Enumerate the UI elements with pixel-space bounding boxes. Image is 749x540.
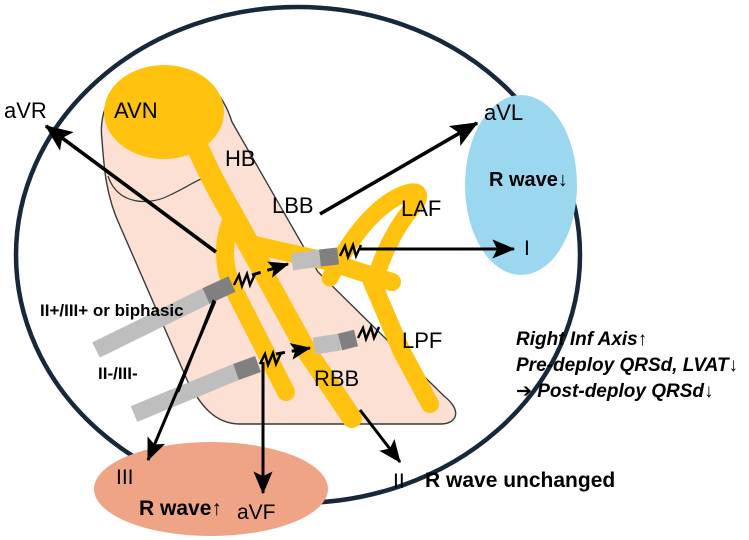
- lead-label-avf: aVF: [237, 502, 276, 523]
- conduction-diagram-svg: [0, 0, 749, 540]
- conduction-label-laf: LAF: [401, 198, 441, 220]
- paced-morphology-upper: II+/III+ or biphasic: [40, 302, 184, 319]
- avl-r-wave-annotation: R wave↓: [489, 170, 568, 190]
- lead-label-i: I: [524, 238, 530, 259]
- summary-line-2: Pre-deploy QRSd, LVAT↓: [516, 356, 738, 375]
- lead-label-ii: II: [393, 471, 405, 492]
- diagram-canvas: aVR aVL R wave↓ I AVN HB LBB LAF LPF RBB…: [0, 0, 749, 540]
- conduction-label-rbb: RBB: [314, 368, 359, 390]
- lead-label-iii: III: [116, 467, 134, 488]
- summary-line-1: Right Inf Axis↑: [516, 330, 647, 349]
- summary-line-3: ➔ Post-deploy QRSd↓: [516, 382, 714, 401]
- lead-tip-upper: [206, 284, 232, 296]
- conduction-label-lbb: LBB: [272, 195, 314, 217]
- lead-ii-annotation: R wave unchanged: [425, 470, 615, 491]
- lead-tip-lower: [236, 364, 258, 372]
- conduction-label-hb: HB: [225, 148, 256, 170]
- paced-morphology-lower: II-/III-: [98, 365, 138, 382]
- conduction-label-avn: AVN: [114, 100, 158, 122]
- avf-region-ellipse: [94, 442, 328, 536]
- lead-label-avr: aVR: [4, 100, 47, 122]
- avf-r-wave-annotation: R wave↑: [139, 498, 222, 519]
- conduction-label-lpf: LPF: [402, 330, 442, 352]
- lead-label-avl: aVL: [484, 102, 523, 124]
